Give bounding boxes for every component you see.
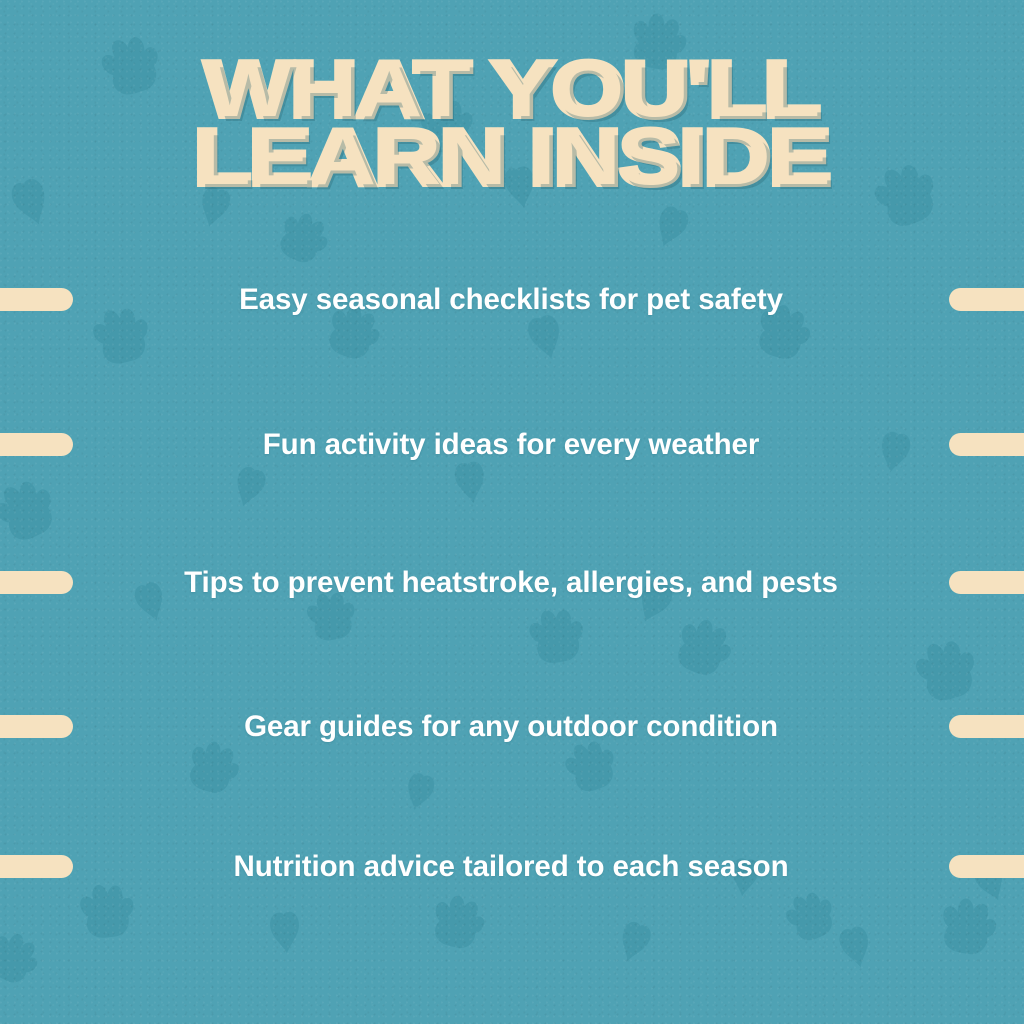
left-pill-marker (0, 571, 73, 594)
list-item: Tips to prevent heatstroke, allergies, a… (0, 566, 1024, 599)
left-pill-marker (0, 715, 73, 738)
poster-canvas: WHAT YOU'LL LEARN INSIDE Easy seasonal c… (0, 0, 1024, 1024)
list-item-label: Gear guides for any outdoor condition (73, 710, 949, 743)
list-item: Fun activity ideas for every weather (0, 428, 1024, 461)
list-item: Easy seasonal checklists for pet safety (0, 283, 1024, 316)
benefit-list: Easy seasonal checklists for pet safety … (0, 0, 1024, 1024)
right-pill-marker (949, 715, 1024, 738)
list-item-label: Easy seasonal checklists for pet safety (73, 283, 949, 316)
list-item: Nutrition advice tailored to each season (0, 850, 1024, 883)
left-pill-marker (0, 855, 73, 878)
left-pill-marker (0, 433, 73, 456)
right-pill-marker (949, 571, 1024, 594)
list-item-label: Tips to prevent heatstroke, allergies, a… (73, 566, 949, 599)
list-item-label: Nutrition advice tailored to each season (73, 850, 949, 883)
right-pill-marker (949, 288, 1024, 311)
right-pill-marker (949, 855, 1024, 878)
right-pill-marker (949, 433, 1024, 456)
left-pill-marker (0, 288, 73, 311)
list-item: Gear guides for any outdoor condition (0, 710, 1024, 743)
list-item-label: Fun activity ideas for every weather (73, 428, 949, 461)
